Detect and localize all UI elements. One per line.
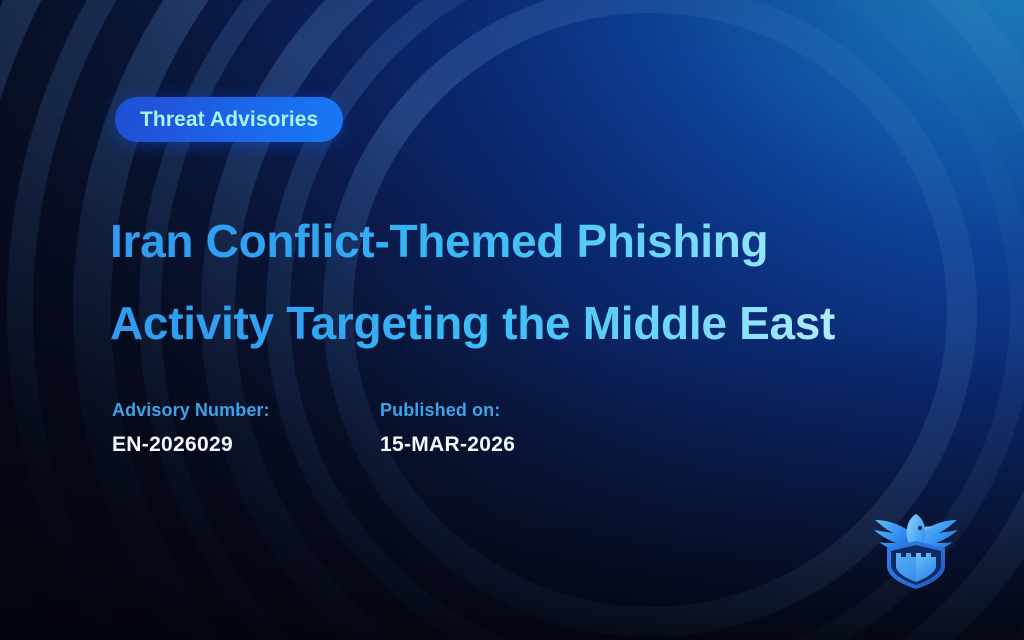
meta-label-advisory-number: Advisory Number: bbox=[112, 395, 380, 425]
meta-value-advisory-number: EN-2026029 bbox=[112, 425, 380, 465]
eagle-shield-logo-icon bbox=[868, 503, 964, 591]
advisory-meta: Advisory Number: EN-2026029 Published on… bbox=[112, 395, 515, 465]
page-title-line-2: Activity Targeting the Middle East bbox=[110, 282, 980, 364]
banner-content: Threat Advisories Iran Conflict-Themed P… bbox=[0, 0, 1024, 640]
meta-value-published-on: 15-MAR-2026 bbox=[380, 425, 515, 465]
meta-advisory-number: Advisory Number: EN-2026029 bbox=[112, 395, 380, 465]
eagle-eye bbox=[918, 526, 922, 530]
category-badge[interactable]: Threat Advisories bbox=[115, 97, 343, 142]
page-title: Iran Conflict-Themed Phishing Activity T… bbox=[110, 200, 980, 364]
meta-label-published-on: Published on: bbox=[380, 395, 515, 425]
category-badge-label: Threat Advisories bbox=[140, 108, 318, 132]
page-title-line-1: Iran Conflict-Themed Phishing bbox=[110, 200, 980, 282]
meta-published-on: Published on: 15-MAR-2026 bbox=[380, 395, 515, 465]
advisory-banner: Threat Advisories Iran Conflict-Themed P… bbox=[0, 0, 1024, 640]
